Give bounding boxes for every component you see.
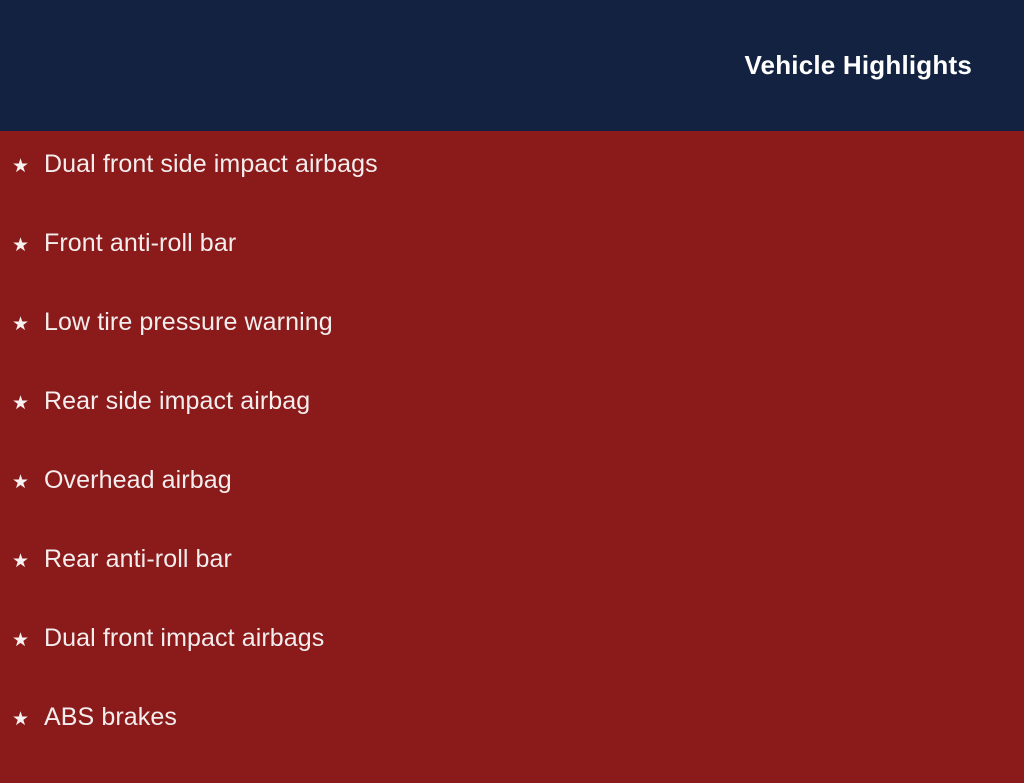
star-bullet-icon: ★	[12, 315, 44, 334]
list-item: ★ Dual front side impact airbags	[0, 151, 1024, 230]
highlight-label: Rear anti-roll bar	[44, 546, 232, 574]
list-item: ★ Front anti-roll bar	[0, 230, 1024, 309]
star-bullet-icon: ★	[12, 710, 44, 729]
highlight-label: Dual front impact airbags	[44, 625, 324, 653]
star-bullet-icon: ★	[12, 631, 44, 650]
list-item: ★ Overhead airbag	[0, 467, 1024, 546]
highlight-label: Dual front side impact airbags	[44, 151, 378, 179]
highlight-label: Overhead airbag	[44, 467, 232, 495]
star-bullet-icon: ★	[12, 473, 44, 492]
list-item: ★ Rear side impact airbag	[0, 388, 1024, 467]
list-item: ★ Rear anti-roll bar	[0, 546, 1024, 625]
highlight-label: Low tire pressure warning	[44, 309, 333, 337]
star-bullet-icon: ★	[12, 552, 44, 571]
highlight-label: ABS brakes	[44, 704, 177, 732]
vehicle-highlights-slide: Vehicle Highlights ★ Dual front side imp…	[0, 0, 1024, 768]
slide-header-band: Vehicle Highlights	[0, 0, 1024, 131]
list-item: ★ ABS brakes	[0, 704, 1024, 783]
highlight-label: Rear side impact airbag	[44, 388, 310, 416]
vehicle-highlights-list: ★ Dual front side impact airbags ★ Front…	[0, 151, 1024, 783]
page-title: Vehicle Highlights	[744, 51, 972, 80]
highlight-label: Front anti-roll bar	[44, 230, 236, 258]
star-bullet-icon: ★	[12, 157, 44, 176]
star-bullet-icon: ★	[12, 236, 44, 255]
list-item: ★ Dual front impact airbags	[0, 625, 1024, 704]
highlights-body: ★ Dual front side impact airbags ★ Front…	[0, 131, 1024, 768]
list-item: ★ Low tire pressure warning	[0, 309, 1024, 388]
star-bullet-icon: ★	[12, 394, 44, 413]
